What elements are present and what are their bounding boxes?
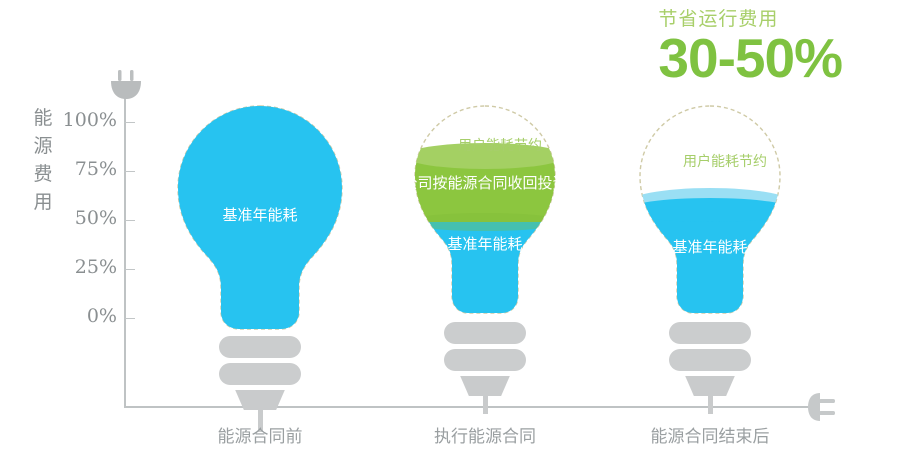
headline-value: 30-50%: [658, 30, 842, 86]
bulb-base: [400, 322, 570, 414]
y-axis-tick-25: [124, 269, 135, 270]
bulb-base-ring: [444, 322, 526, 344]
y-axis-tick-label-75: 75%: [55, 158, 117, 180]
y-axis-title: 能源费用: [30, 104, 56, 216]
infographic-canvas: 节省运行费用 30-50% 能源费用 100%75%50%25%0%: [0, 0, 900, 473]
y-axis-tick-0: [124, 318, 135, 319]
y-axis-tick-label-0: 0%: [55, 305, 117, 327]
bulb-during-contract: 用户能耗节约 公司按能源合同收回投资 基准年能耗: [400, 100, 600, 410]
bulb-after-contract: 用户能耗节约 基准年能耗: [625, 100, 825, 410]
y-axis-tick-75: [124, 171, 135, 172]
bulb-stem: [708, 396, 713, 414]
x-axis-label-0: 能源合同前: [170, 422, 350, 447]
bulb-base: [160, 336, 360, 432]
plug-icon: [108, 70, 144, 102]
bulb-stem: [483, 396, 488, 414]
y-axis-tick-50: [124, 220, 135, 221]
x-axis-label-1: 执行能源合同: [395, 422, 575, 447]
bulb-base: [625, 322, 795, 414]
y-axis-line: [124, 96, 126, 408]
bulb-base-ring: [669, 322, 751, 344]
bulb-base-contact: [229, 390, 291, 410]
y-axis-tick-label-25: 25%: [55, 256, 117, 278]
headline-block: 节省运行费用 30-50%: [658, 6, 842, 86]
y-axis-tick-100: [124, 122, 135, 123]
bulb-base-contact: [679, 376, 741, 396]
y-axis-tick-label-100: 100%: [55, 109, 117, 131]
bulb-base-contact: [454, 376, 516, 396]
bulb-base-ring: [219, 336, 301, 358]
y-axis-tick-label-50: 50%: [55, 207, 117, 229]
bulb-base-ring: [669, 349, 751, 371]
bulb-base-ring: [444, 349, 526, 371]
bulb-before-contract: 基准年能耗: [160, 100, 360, 410]
x-axis-label-2: 能源合同结束后: [620, 422, 800, 447]
bulb-base-ring: [219, 363, 301, 385]
